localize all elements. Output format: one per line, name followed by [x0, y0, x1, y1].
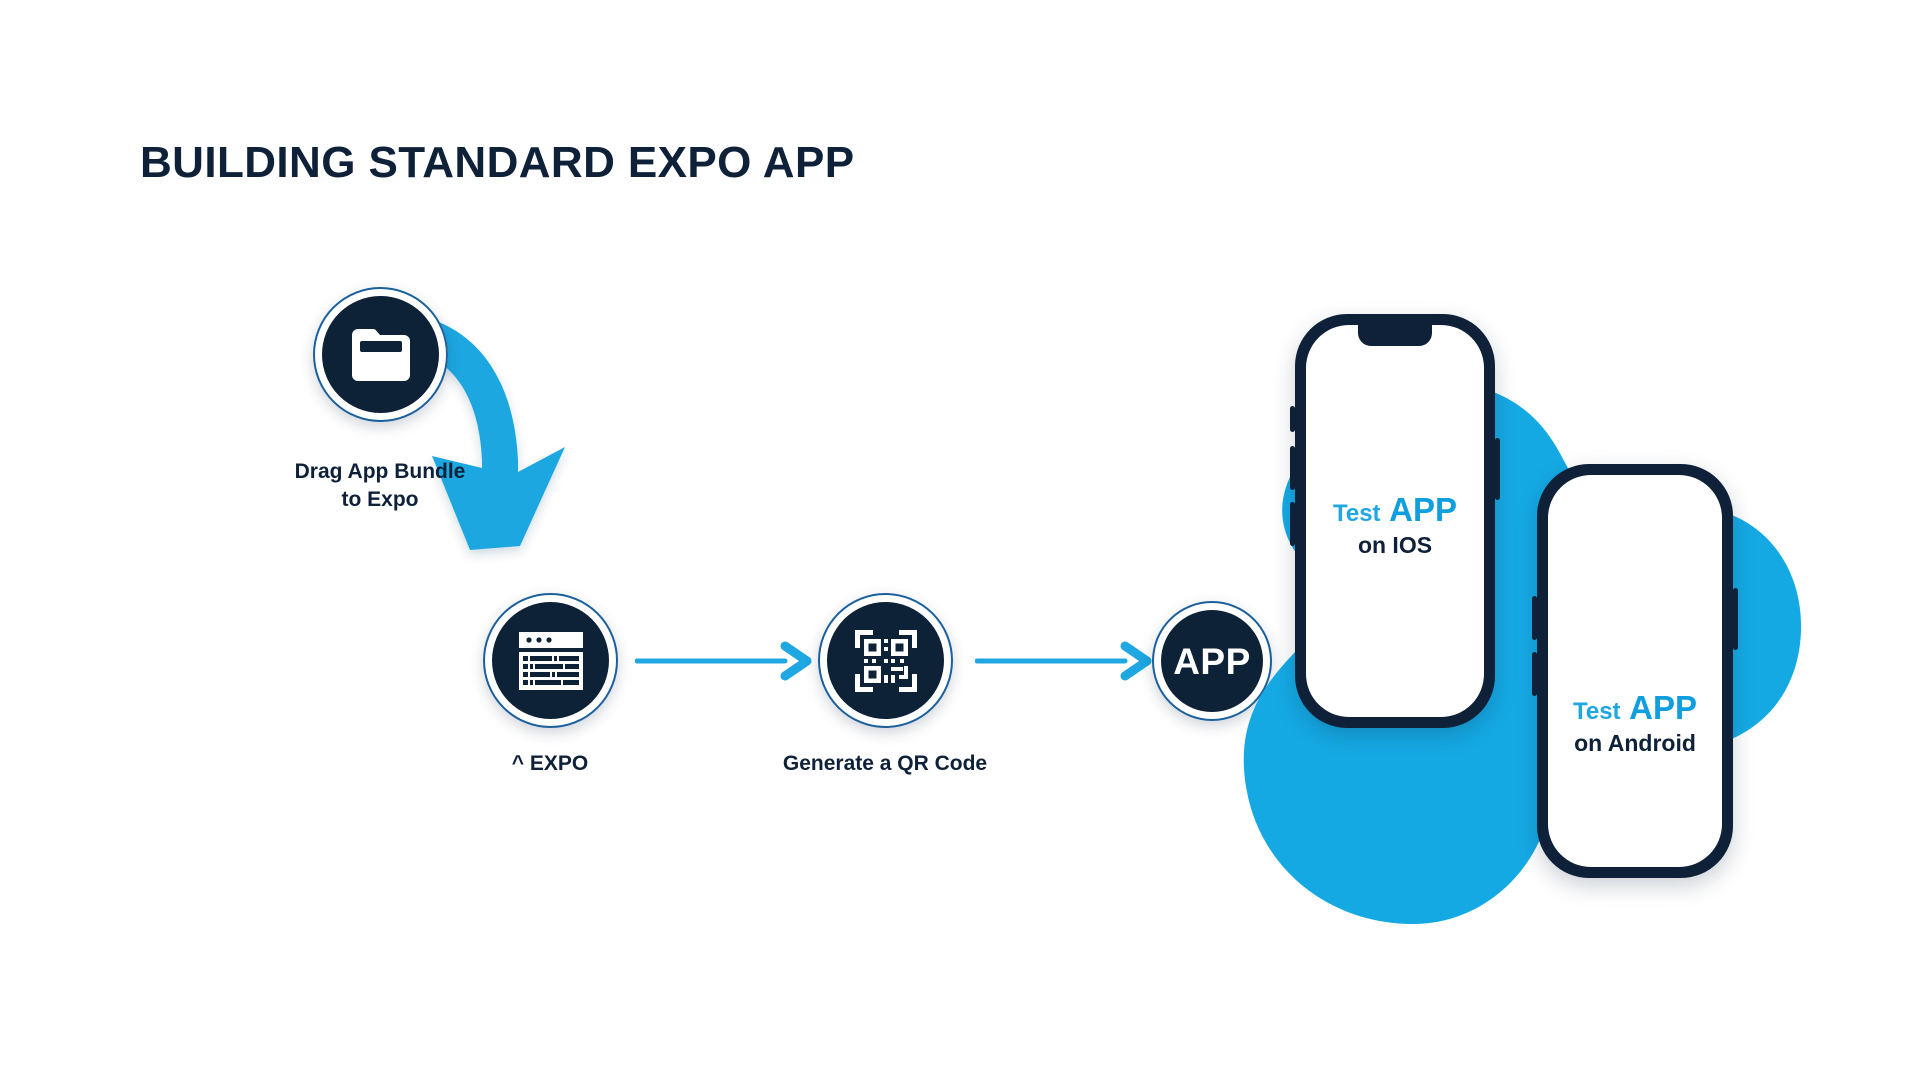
step-node-expo[interactable] — [483, 593, 618, 728]
iphone-notch — [1358, 325, 1432, 346]
ios-phone-frame[interactable]: Test APP on IOS — [1295, 314, 1495, 728]
ios-volume-down-button[interactable] — [1290, 502, 1295, 546]
android-screen-text: Test APP on Android — [1548, 689, 1722, 757]
android-volume-button[interactable] — [1532, 596, 1537, 640]
label-drag-app-bundle: Drag App Bundle to Expo — [220, 458, 540, 513]
android-phone-frame[interactable]: Test APP on Android — [1537, 464, 1733, 878]
folder-icon — [350, 327, 412, 383]
ios-app-emphasis: APP — [1389, 491, 1457, 528]
page-title: BUILDING STANDARD EXPO APP — [140, 138, 854, 188]
ios-platform-label: on IOS — [1306, 532, 1484, 559]
diagram-canvas: BUILDING STANDARD EXPO APP Drag App Bund… — [0, 0, 1920, 1080]
ios-test-prefix: Test — [1333, 500, 1381, 527]
node-disc — [827, 602, 944, 719]
android-side-button[interactable] — [1733, 588, 1738, 650]
label-generate-qr: Generate a QR Code — [725, 750, 1045, 778]
ios-power-button[interactable] — [1495, 438, 1500, 500]
ios-volume-up-button[interactable] — [1290, 446, 1295, 490]
qr-code-icon — [855, 630, 917, 692]
device-showcase: Test APP on IOS Test APP on Android — [1185, 330, 1825, 970]
android-test-prefix: Test — [1573, 698, 1621, 725]
android-app-emphasis: APP — [1629, 689, 1697, 726]
android-platform-label: on Android — [1548, 730, 1722, 757]
label-expo: ^ EXPO — [410, 750, 690, 778]
arrow-expo-to-qr — [635, 641, 820, 681]
node-disc — [322, 296, 439, 413]
ios-screen-text: Test APP on IOS — [1306, 491, 1484, 559]
ios-phone-screen: Test APP on IOS — [1306, 325, 1484, 717]
ios-mute-button[interactable] — [1290, 406, 1295, 432]
node-disc — [492, 602, 609, 719]
android-power-button[interactable] — [1532, 652, 1537, 696]
step-node-drag-app-bundle[interactable] — [313, 287, 448, 422]
step-node-generate-qr[interactable] — [818, 593, 953, 728]
arrow-qr-to-app — [975, 641, 1160, 681]
android-phone-screen: Test APP on Android — [1548, 475, 1722, 867]
code-window-icon — [518, 631, 584, 691]
